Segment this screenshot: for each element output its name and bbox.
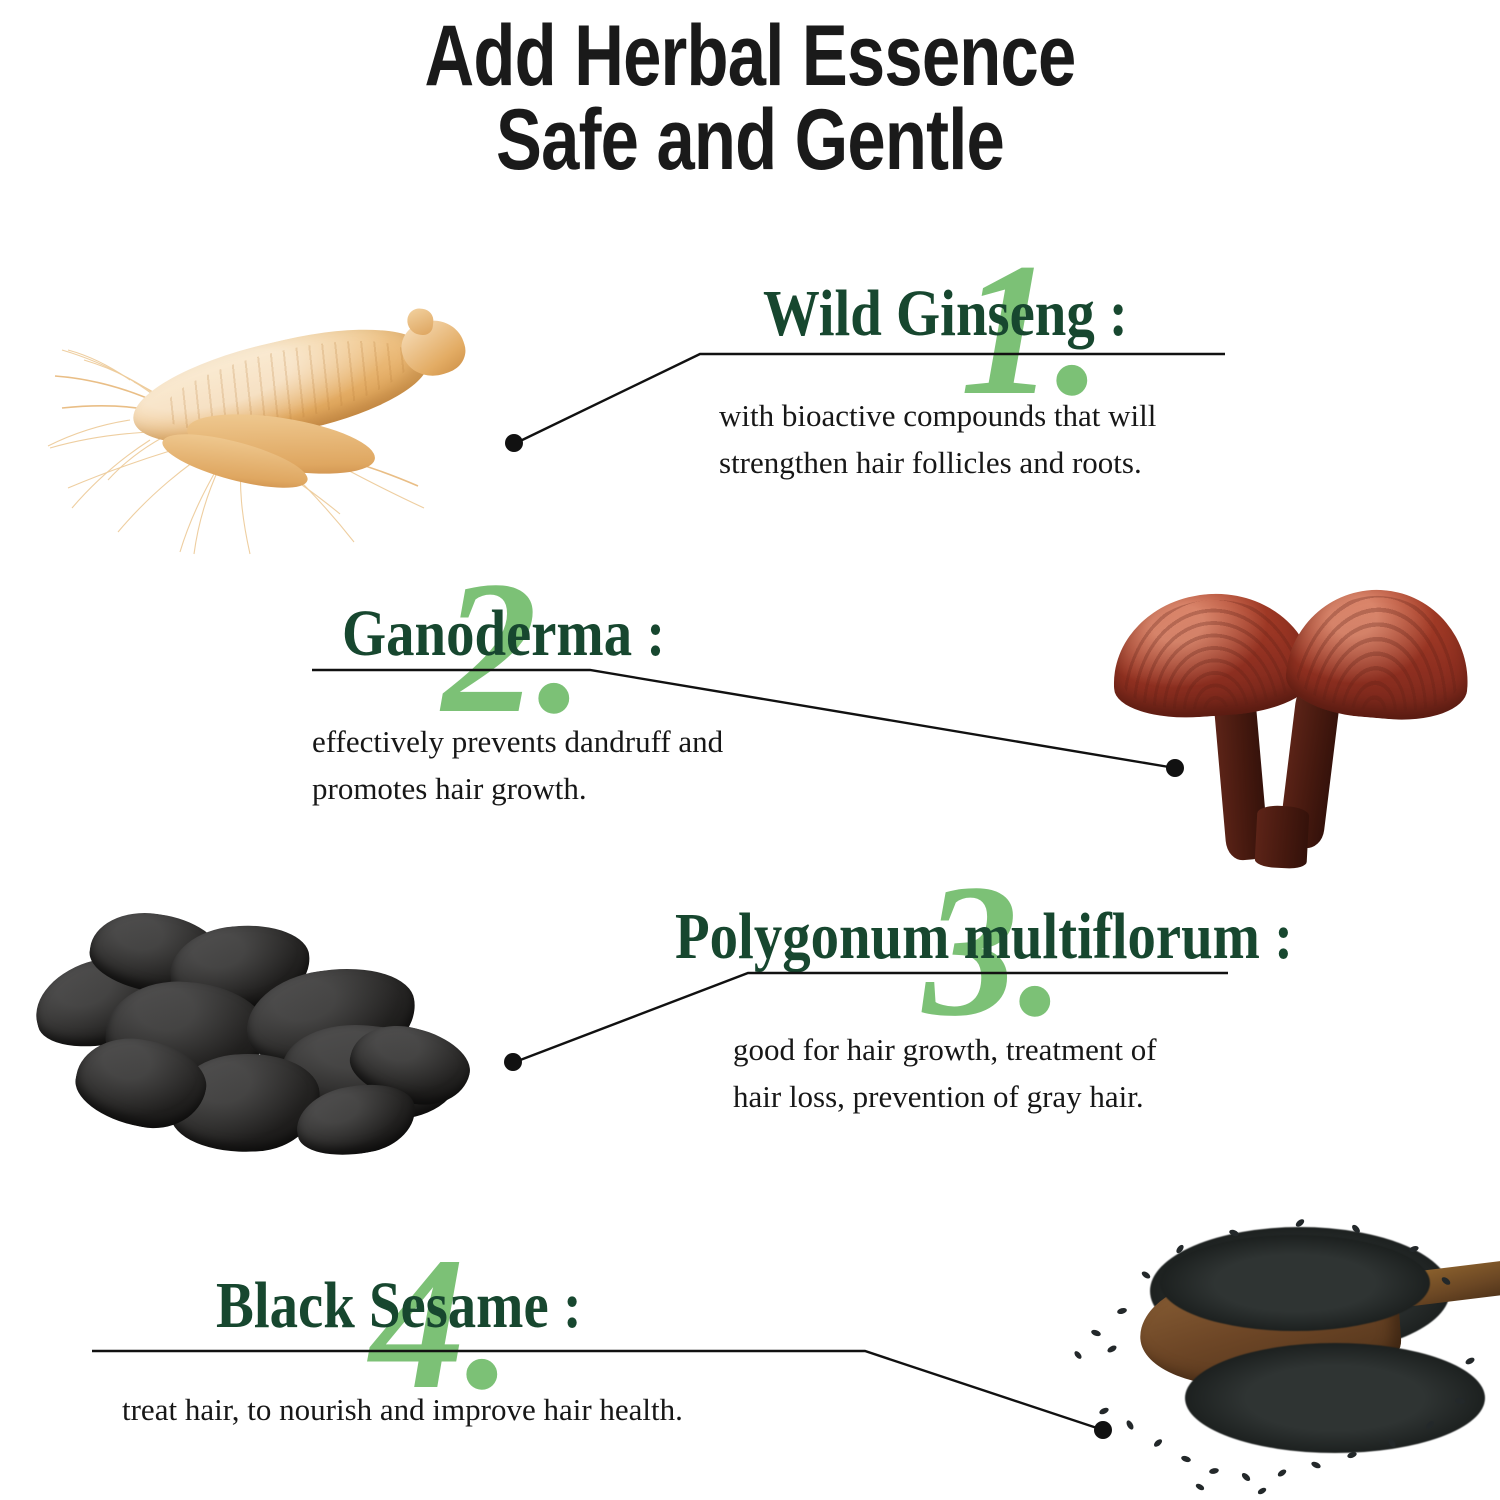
title-line-2: Safe and Gentle xyxy=(150,98,1350,182)
ingredient-description-4: treat hair, to nourish and improve hair … xyxy=(122,1386,922,1433)
black-sesame-seeds-photo xyxy=(1000,1215,1500,1500)
ingredient-heading-4: Black Sesame : xyxy=(216,1273,582,1339)
ganoderma-cap-left xyxy=(1108,587,1316,723)
sesame-scatter-icon xyxy=(1000,1215,1500,1500)
ingredient-heading-3: Polygonum multiflorum : xyxy=(675,904,1293,970)
polygonum-multiflorum-slices-photo xyxy=(20,900,520,1180)
page-title: Add Herbal Essence Safe and Gentle xyxy=(0,14,1500,183)
title-line-1: Add Herbal Essence xyxy=(150,14,1350,98)
ingredient-heading-2: Ganoderma : xyxy=(342,601,665,667)
infographic-canvas: Add Herbal Essence Safe and Gentle xyxy=(0,0,1500,1500)
ganoderma-stem-base xyxy=(1254,805,1309,870)
ingredient-description-2: effectively prevents dandruff and promot… xyxy=(312,718,852,812)
ingredient-block-3: 3. Polygonum multiflorum : good for hair… xyxy=(675,868,1465,1118)
ganoderma-cap-right xyxy=(1283,582,1475,725)
ingredient-description-1: with bioactive compounds that will stren… xyxy=(719,392,1279,486)
wild-ginseng-root-photo xyxy=(10,280,570,560)
ingredient-heading-1: Wild Ginseng : xyxy=(763,281,1128,347)
ganoderma-mushroom-photo xyxy=(1060,570,1480,870)
ingredient-block-1: 1. Wild Ginseng : with bioactive compoun… xyxy=(745,245,1265,495)
ingredient-description-3: good for hair growth, treatment of hair … xyxy=(733,1026,1333,1120)
ingredient-block-2: 2. Ganoderma : effectively prevents dand… xyxy=(312,565,752,815)
ingredient-block-4: 4. Black Sesame : treat hair, to nourish… xyxy=(208,1245,698,1465)
